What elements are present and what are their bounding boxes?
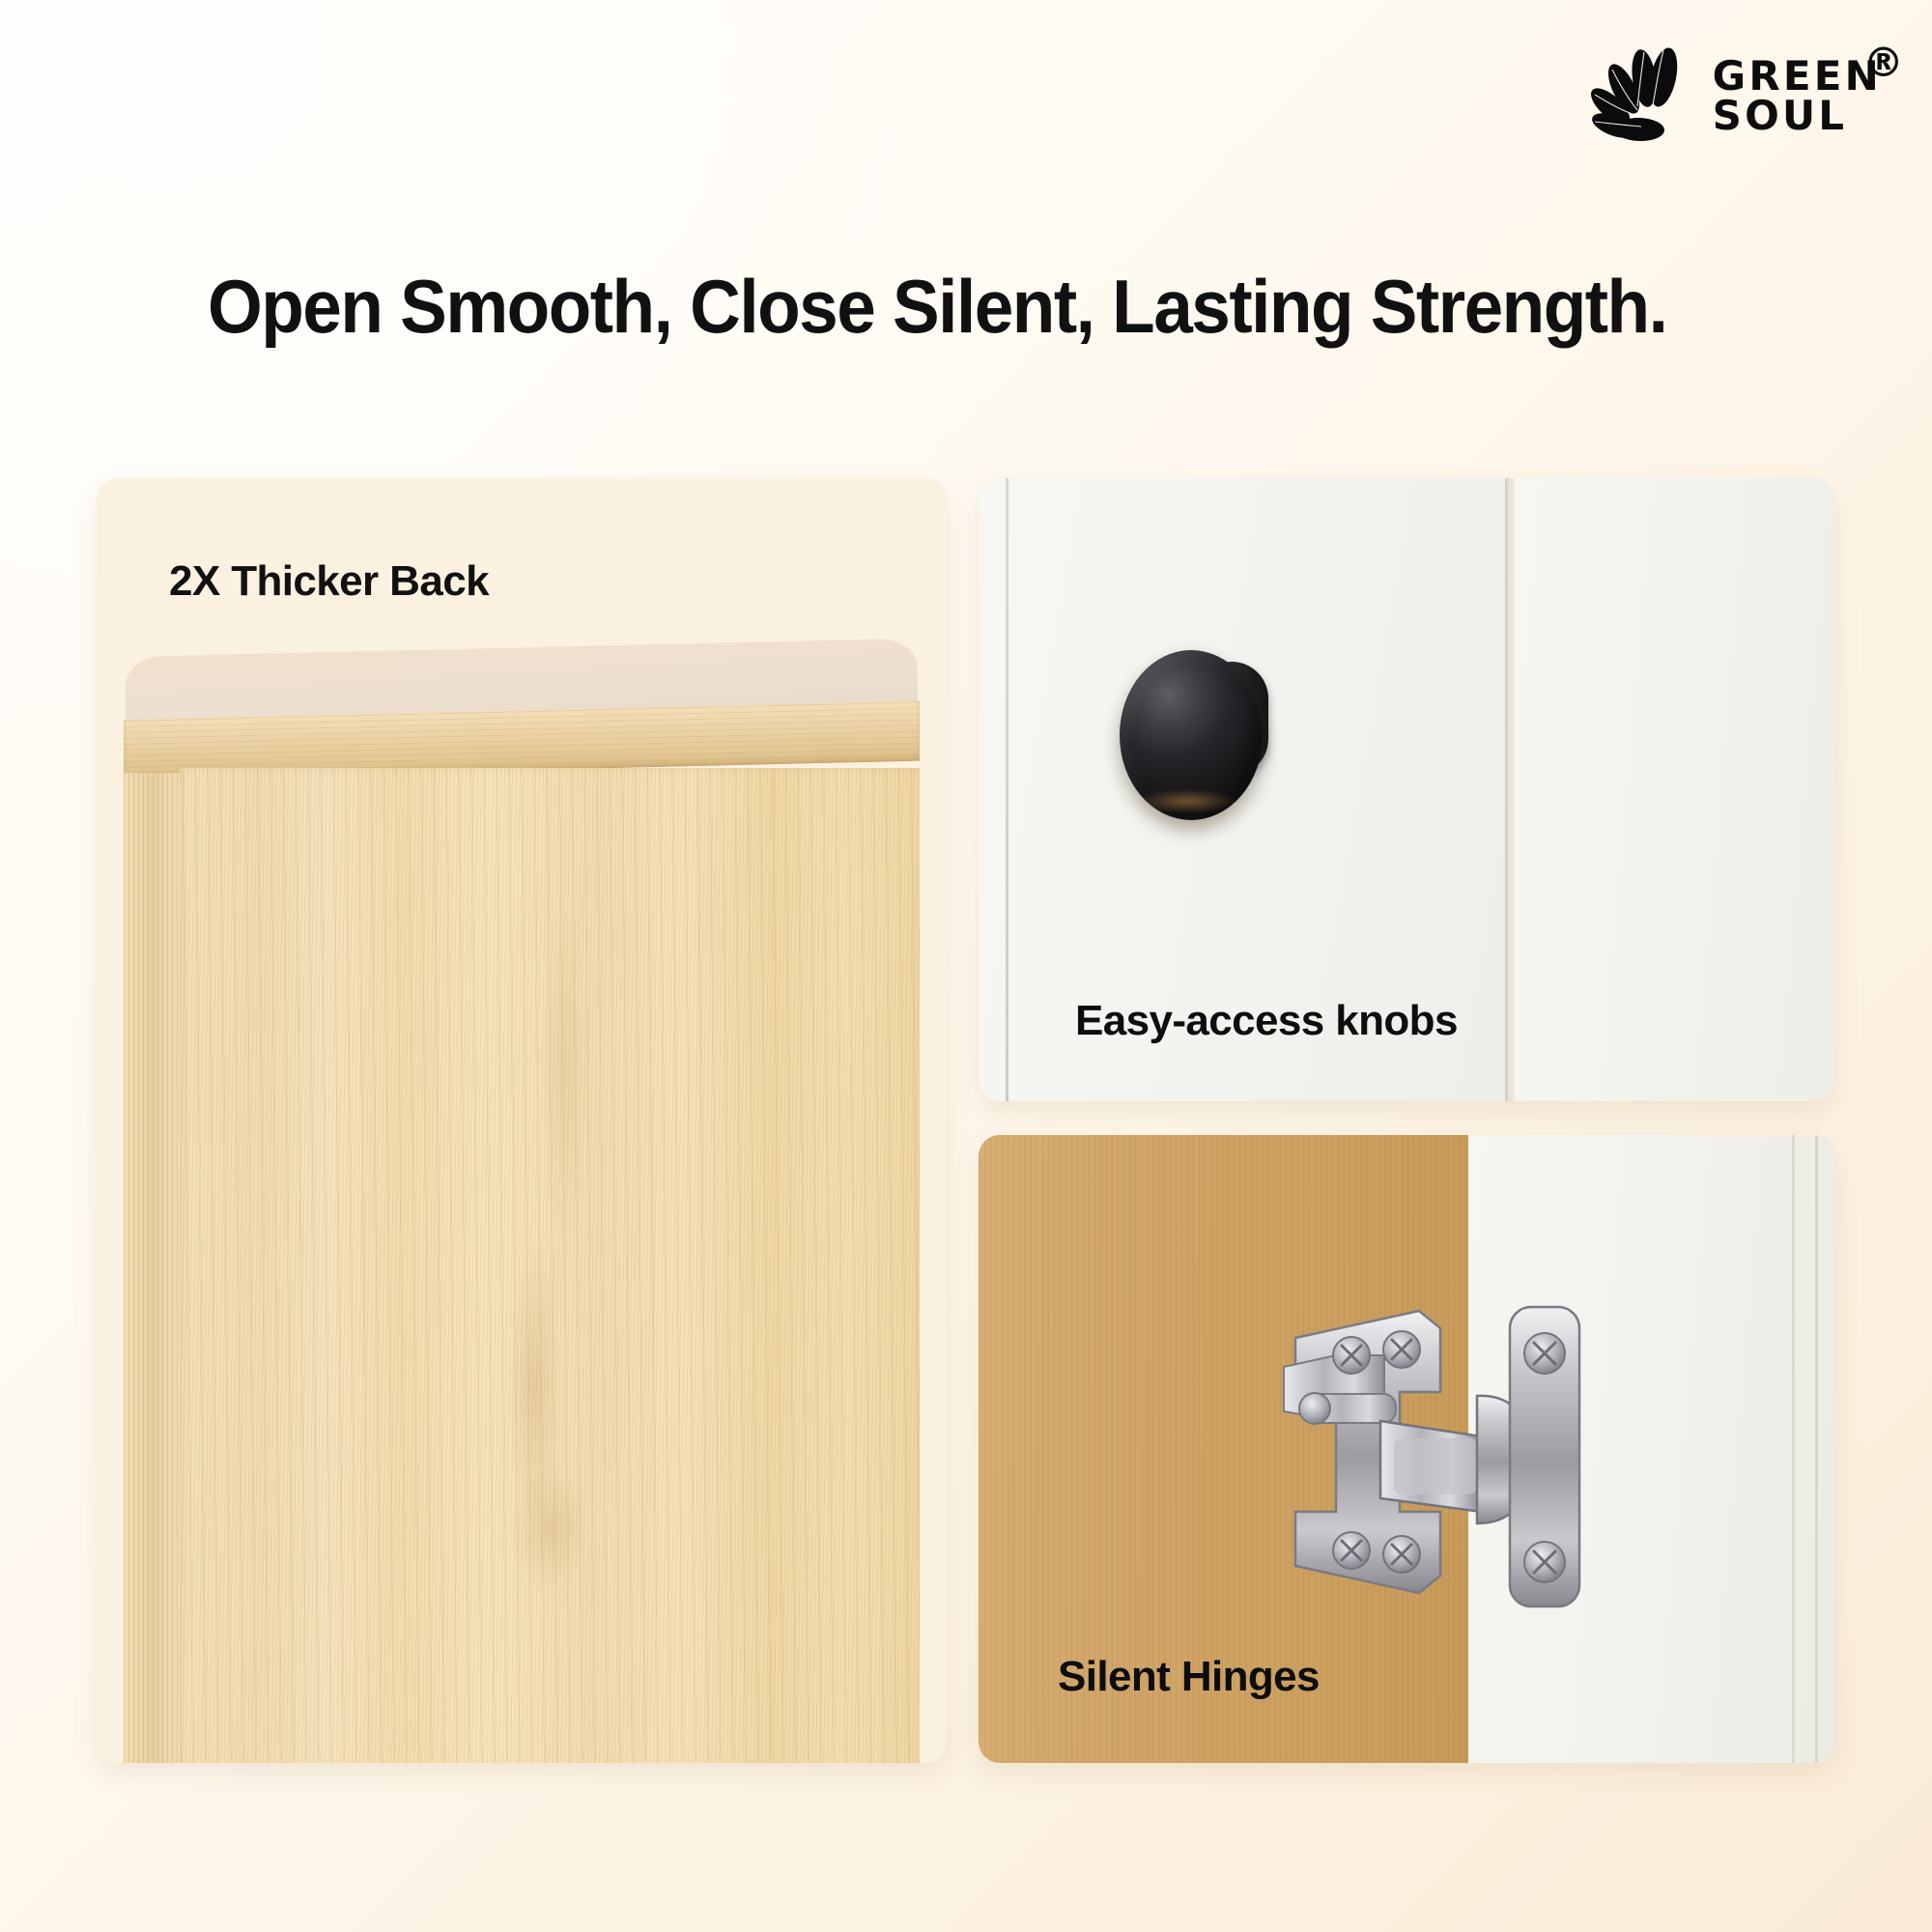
feature-panel-easy-access-knobs: Easy-access knobs: [979, 478, 1835, 1101]
cabinet-back-panel-wood: [180, 768, 920, 1763]
brand-wordmark: GREEN SOUL ®: [1713, 57, 1882, 135]
registered-trademark-icon: ®: [1863, 43, 1907, 83]
knob-cap: [1120, 650, 1263, 820]
brand-line-1: GREEN: [1713, 57, 1882, 97]
feature-panel-silent-hinges: Silent Hinges: [979, 1135, 1835, 1763]
feature-label-thicker-back: 2X Thicker Back: [169, 557, 489, 606]
cabinet-side-rail: [124, 773, 180, 1763]
white-side-panel-with-slots: [1515, 478, 1835, 1101]
brand-line-2: SOUL: [1713, 97, 1882, 136]
door-gap-seam: [1505, 478, 1515, 1101]
brand-logo: GREEN SOUL ®: [1589, 46, 1882, 147]
feature-label-silent-hinges: Silent Hinges: [1058, 1653, 1320, 1701]
feature-label-easy-access-knobs: Easy-access knobs: [1075, 997, 1458, 1045]
page-title: Open Smooth, Close Silent, Lasting Stren…: [208, 263, 1689, 351]
concealed-hinge-icon: [1191, 1222, 1655, 1686]
product-feature-graphic: GREEN SOUL ® Open Smooth, Close Silent, …: [0, 0, 1932, 1932]
cabinet-knob: [1120, 650, 1291, 834]
feature-panel-thicker-back: 2X Thicker Back: [97, 478, 947, 1763]
leaf-fan-logo-icon: [1589, 46, 1697, 147]
